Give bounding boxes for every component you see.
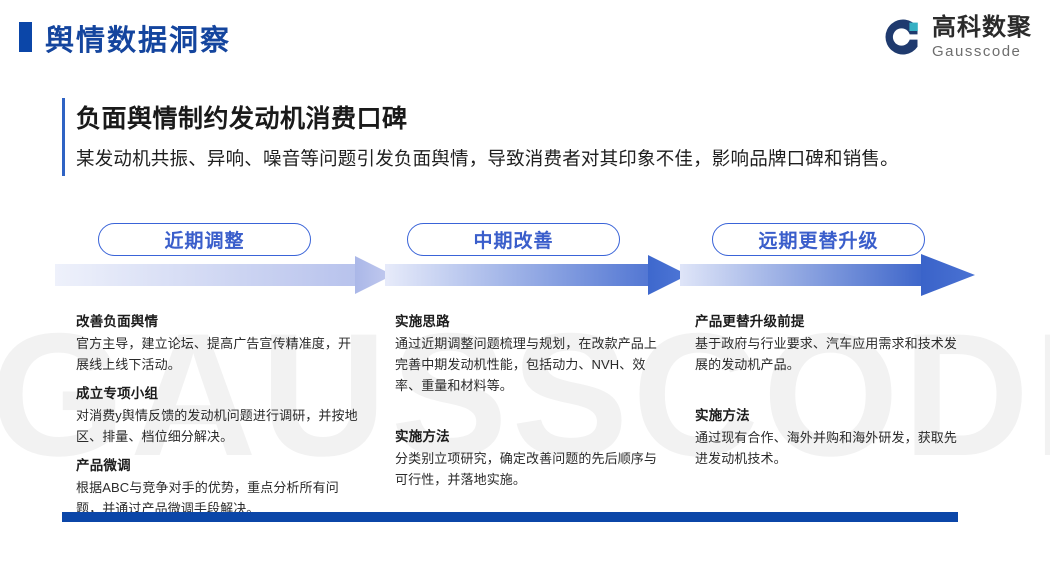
phase-pill-label: 中期改善 — [473, 226, 553, 253]
block-title: 实施方法 — [395, 427, 660, 447]
gausscode-logo-mark-icon — [881, 16, 923, 58]
block-body: 对消费y舆情反馈的发动机问题进行调研，并按地区、排量、档位细分解决。 — [76, 405, 361, 447]
logo-wordmark: 高科数聚 Gausscode — [932, 16, 1032, 59]
content-block: 实施思路 通过近期调整问题梳理与规划，在改款产品上完善中期发动机性能，包括动力、… — [395, 312, 660, 396]
title-marker-square — [19, 22, 32, 52]
content-block: 产品微调 根据ABC与竞争对手的优势，重点分析所有问题，并通过产品微调手段解决。 — [76, 456, 361, 519]
block-body: 通过近期调整问题梳理与规划，在改款产品上完善中期发动机性能，包括动力、NVH、效… — [395, 333, 660, 396]
block-title: 改善负面舆情 — [76, 312, 361, 332]
content-block: 改善负面舆情 官方主导，建立论坛、提高广告宣传精准度，开展线上线下活动。 — [76, 312, 361, 375]
phase-pill-label: 远期更替升级 — [758, 226, 878, 253]
content-block: 产品更替升级前提 基于政府与行业要求、汽车应用需求和技术发展的发动机产品。 — [695, 312, 960, 375]
block-spacer — [695, 384, 960, 406]
logo-text-cn: 高科数聚 — [932, 16, 1032, 40]
content-block: 成立专项小组 对消费y舆情反馈的发动机问题进行调研，并按地区、排量、档位细分解决… — [76, 384, 361, 447]
headline-accent-bar — [62, 98, 65, 176]
block-title: 产品更替升级前提 — [695, 312, 960, 332]
content-column-long-term: 产品更替升级前提 基于政府与行业要求、汽车应用需求和技术发展的发动机产品。 实施… — [695, 312, 960, 469]
logo-text-en: Gausscode — [932, 44, 1032, 59]
headline-subtitle: 某发动机共振、异响、噪音等问题引发负面舆情，导致消费者对其印象不佳，影响品牌口碑… — [76, 145, 899, 171]
block-title: 实施方法 — [695, 406, 960, 426]
phase-pill-long-term[interactable]: 远期更替升级 — [712, 223, 925, 256]
content-column-near-term: 改善负面舆情 官方主导，建立论坛、提高广告宣传精准度，开展线上线下活动。 成立专… — [76, 312, 361, 519]
block-body: 官方主导，建立论坛、提高广告宣传精准度，开展线上线下活动。 — [76, 333, 361, 375]
brand-logo: 高科数聚 Gausscode — [881, 10, 1032, 64]
phase-pill-near-term[interactable]: 近期调整 — [98, 223, 311, 256]
timeline-arrow — [55, 252, 990, 302]
block-body: 基于政府与行业要求、汽车应用需求和技术发展的发动机产品。 — [695, 333, 960, 375]
content-column-mid-term: 实施思路 通过近期调整问题梳理与规划，在改款产品上完善中期发动机性能，包括动力、… — [395, 312, 660, 490]
page-title: 舆情数据洞察 — [45, 17, 231, 59]
phase-pill-label: 近期调整 — [164, 226, 244, 253]
block-body: 通过现有合作、海外并购和海外研发，获取先进发动机技术。 — [695, 427, 960, 469]
page-header: 舆情数据洞察 高科数聚 Gausscode — [0, 0, 1050, 74]
block-title: 成立专项小组 — [76, 384, 361, 404]
block-body: 分类别立项研究，确定改善问题的先后顺序与可行性，并落地实施。 — [395, 448, 660, 490]
block-title: 产品微调 — [76, 456, 361, 476]
block-title: 实施思路 — [395, 312, 660, 332]
block-spacer — [395, 405, 660, 427]
headline-title: 负面舆情制约发动机消费口碑 — [76, 99, 408, 135]
content-block: 实施方法 分类别立项研究，确定改善问题的先后顺序与可行性，并落地实施。 — [395, 427, 660, 490]
phase-pill-mid-term[interactable]: 中期改善 — [407, 223, 620, 256]
content-block: 实施方法 通过现有合作、海外并购和海外研发，获取先进发动机技术。 — [695, 406, 960, 469]
footer-accent-bar — [62, 512, 958, 522]
